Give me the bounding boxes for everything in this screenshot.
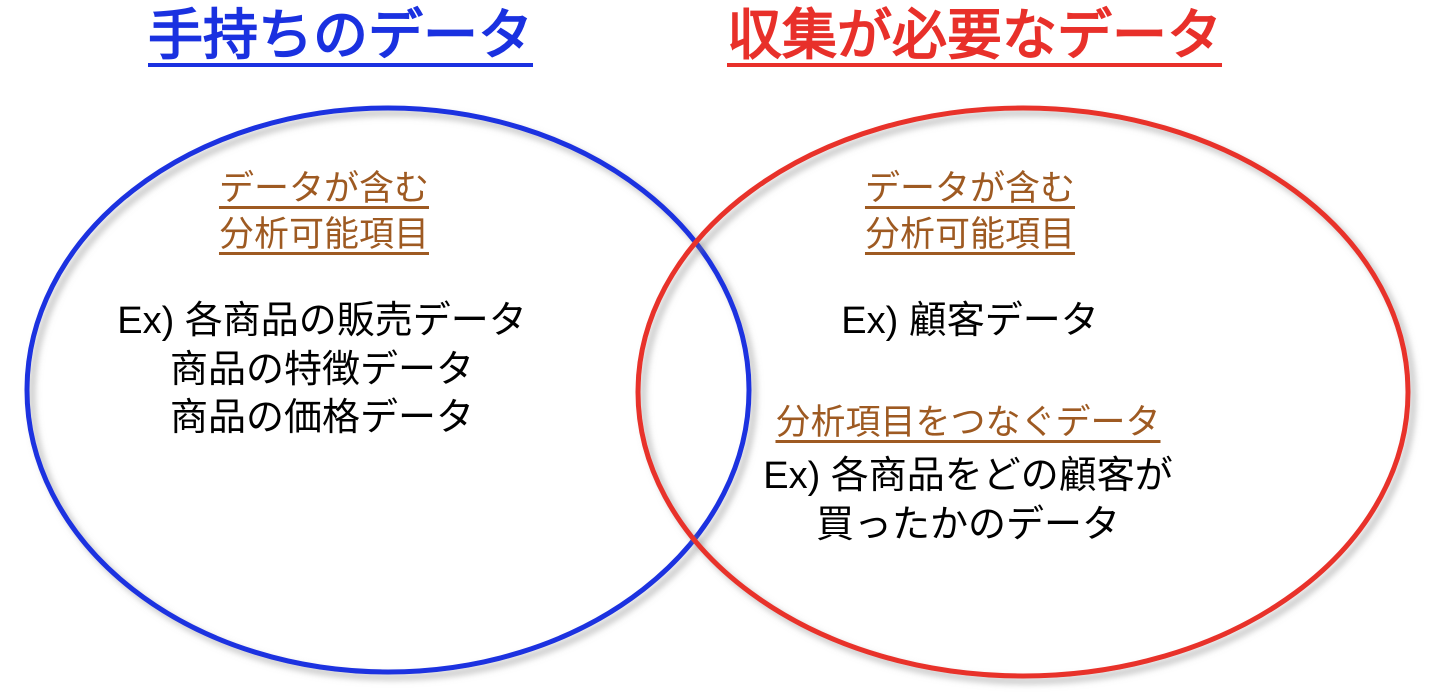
right-body2-line-1: Ex) 各商品をどの顧客が (748, 452, 1188, 501)
right-heading-line-1: データが含む (780, 166, 1160, 212)
left-circle-body: Ex) 各商品の販売データ 商品の特徴データ 商品の価格データ (62, 297, 582, 443)
left-heading-line-2: 分析可能項目 (134, 212, 514, 258)
right-circle-heading-secondary: 分析項目をつなぐデータ (748, 400, 1188, 446)
left-body-line-3: 商品の価格データ (62, 394, 582, 443)
left-circle-title: 手持ちのデータ (148, 8, 533, 63)
left-circle-heading: データが含む 分析可能項目 (134, 166, 514, 257)
right-heading2-line-1: 分析項目をつなぐデータ (748, 400, 1188, 446)
right-body-line-1: Ex) 顧客データ (780, 297, 1160, 346)
left-body-line-1: Ex) 各商品の販売データ (62, 297, 582, 346)
right-heading-line-2: 分析可能項目 (780, 212, 1160, 258)
right-body2-line-2: 買ったかのデータ (748, 501, 1188, 550)
right-circle-title: 収集が必要なデータ (727, 8, 1222, 63)
right-circle-heading: データが含む 分析可能項目 (780, 166, 1160, 257)
left-body-line-2: 商品の特徴データ (62, 346, 582, 395)
venn-diagram-slide: 手持ちのデータ 収集が必要なデータ データが含む 分析可能項目 Ex) 各商品の… (0, 0, 1436, 696)
left-heading-line-1: データが含む (134, 166, 514, 212)
right-circle-body-first: Ex) 顧客データ (780, 297, 1160, 346)
right-circle-body-secondary: Ex) 各商品をどの顧客が 買ったかのデータ (748, 452, 1188, 549)
